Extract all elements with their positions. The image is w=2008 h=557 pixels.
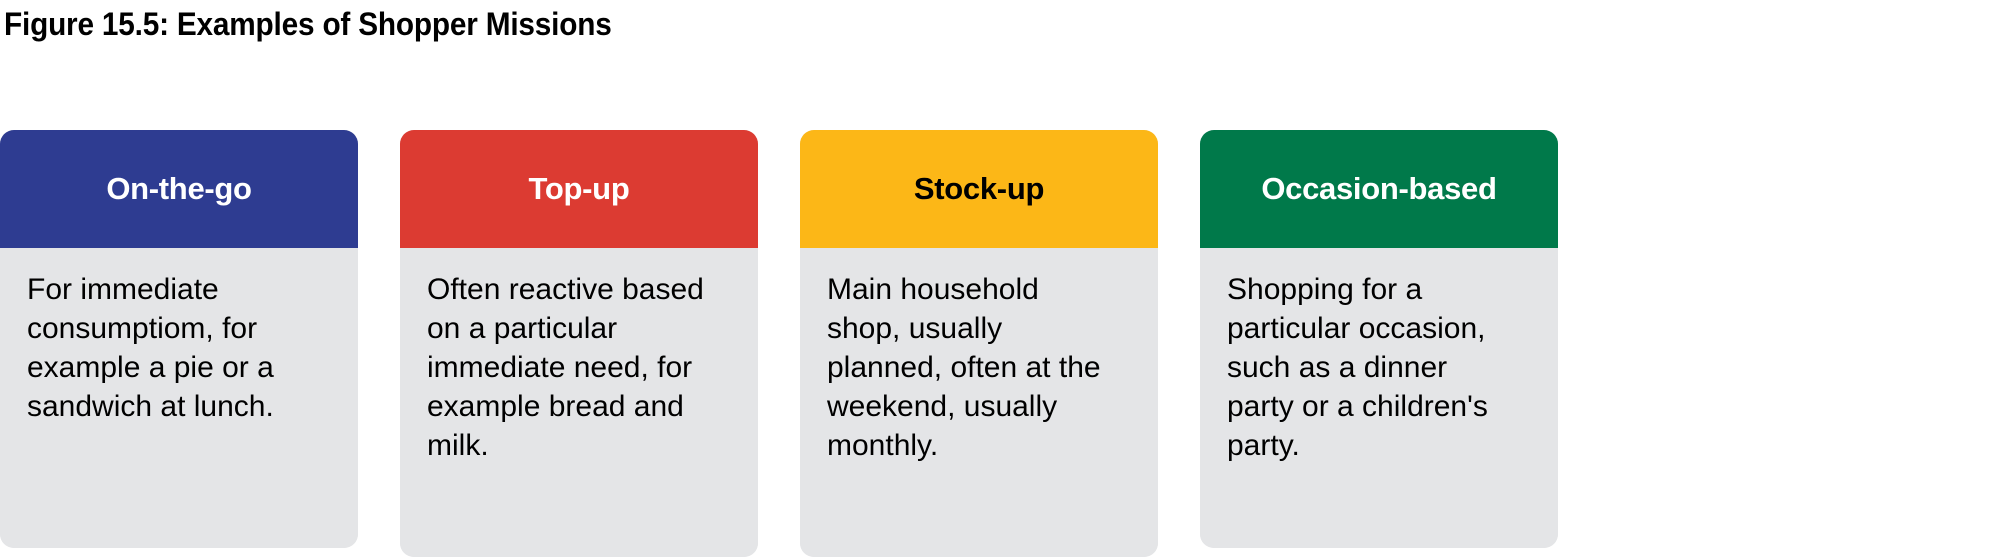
mission-card-title-top-up: Top-up: [529, 171, 630, 207]
mission-card-header-occasion-based: Occasion-based: [1200, 130, 1558, 248]
mission-card-body-occasion-based: Shopping for a particular occasion, such…: [1200, 248, 1558, 548]
mission-card-occasion-based: Occasion-based Shopping for a particular…: [1200, 130, 1558, 548]
page-title: Figure 15.5: Examples of Shopper Mission…: [4, 4, 1306, 48]
mission-card-description-top-up: Often reactive based on a particular imm…: [427, 270, 736, 465]
mission-card-description-occasion-based: Shopping for a particular occasion, such…: [1227, 270, 1536, 465]
mission-card-title-occasion-based: Occasion-based: [1261, 171, 1496, 207]
figure-container: Figure 15.5: Examples of Shopper Mission…: [0, 0, 2008, 557]
mission-card-header-top-up: Top-up: [400, 130, 758, 248]
mission-card-description-stock-up: Main household shop, usually planned, of…: [827, 270, 1136, 465]
mission-card-top-up: Top-up Often reactive based on a particu…: [400, 130, 758, 557]
mission-card-on-the-go: On-the-go For immediate consumptiom, for…: [0, 130, 358, 548]
mission-cards-row: On-the-go For immediate consumptiom, for…: [0, 130, 2008, 557]
mission-card-body-on-the-go: For immediate consumptiom, for example a…: [0, 248, 358, 548]
mission-card-description-on-the-go: For immediate consumptiom, for example a…: [27, 270, 336, 426]
mission-card-body-stock-up: Main household shop, usually planned, of…: [800, 248, 1158, 557]
mission-card-title-on-the-go: On-the-go: [106, 171, 251, 207]
mission-card-title-stock-up: Stock-up: [914, 171, 1044, 207]
mission-card-header-on-the-go: On-the-go: [0, 130, 358, 248]
mission-card-stock-up: Stock-up Main household shop, usually pl…: [800, 130, 1158, 557]
mission-card-header-stock-up: Stock-up: [800, 130, 1158, 248]
mission-card-body-top-up: Often reactive based on a particular imm…: [400, 248, 758, 557]
